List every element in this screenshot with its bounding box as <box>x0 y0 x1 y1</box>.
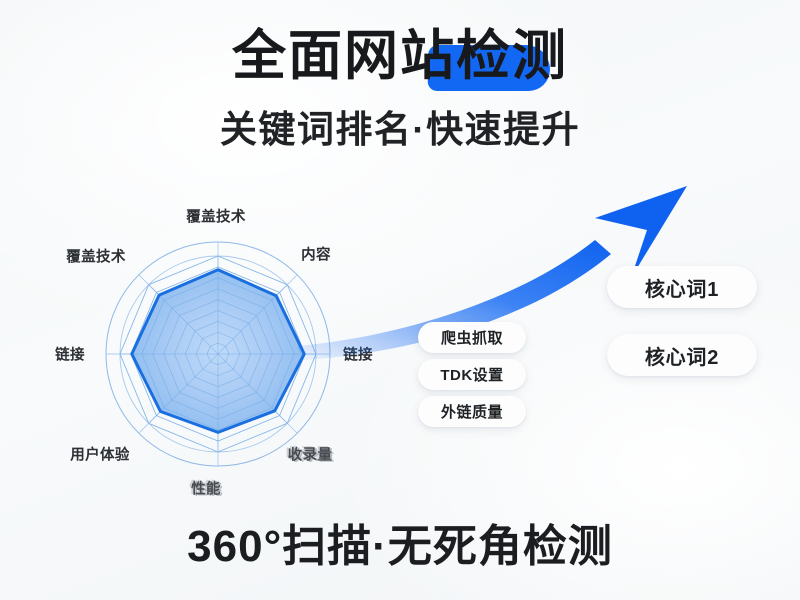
arrow-head <box>595 186 687 278</box>
title-segment-before: 全面 <box>232 26 344 86</box>
radar-label-top-left: 覆盖技术 <box>66 246 126 267</box>
radar-label-bottom-left: 用户体验 <box>70 444 130 465</box>
tag-keyword-1[interactable]: 核心词1 <box>607 266 757 308</box>
tag-tdk[interactable]: TDK设置 <box>418 359 526 390</box>
page-subtitle: 关键词排名·快速提升 <box>0 99 800 153</box>
page-tagline: 360°扫描·无死角检测 <box>0 510 800 574</box>
title-segment-highlight: 网站 <box>344 26 456 86</box>
radar-label-top: 覆盖技术 <box>186 206 246 227</box>
title-segment-after: 检测 <box>456 26 568 86</box>
tag-keyword-2[interactable]: 核心词2 <box>607 334 757 376</box>
radar-label-top-right: 内容 <box>301 244 331 265</box>
tag-crawl[interactable]: 爬虫抓取 <box>418 322 526 353</box>
radar-label-right: 链接 <box>343 344 373 365</box>
radar-geometry <box>106 242 330 466</box>
radar-chart: 覆盖技术 覆盖技术 内容 链接 链接 用户体验 收录量 性能 <box>48 192 388 512</box>
radar-label-bottom-right: 收录量 <box>288 444 333 465</box>
page-title: 全面网站检测 <box>232 28 568 85</box>
radar-label-left: 链接 <box>55 344 85 365</box>
tag-backlink[interactable]: 外链质量 <box>418 396 526 427</box>
headline-block: 全面网站检测 关键词排名·快速提升 <box>0 28 800 153</box>
radar-label-bottom: 性能 <box>191 478 221 499</box>
